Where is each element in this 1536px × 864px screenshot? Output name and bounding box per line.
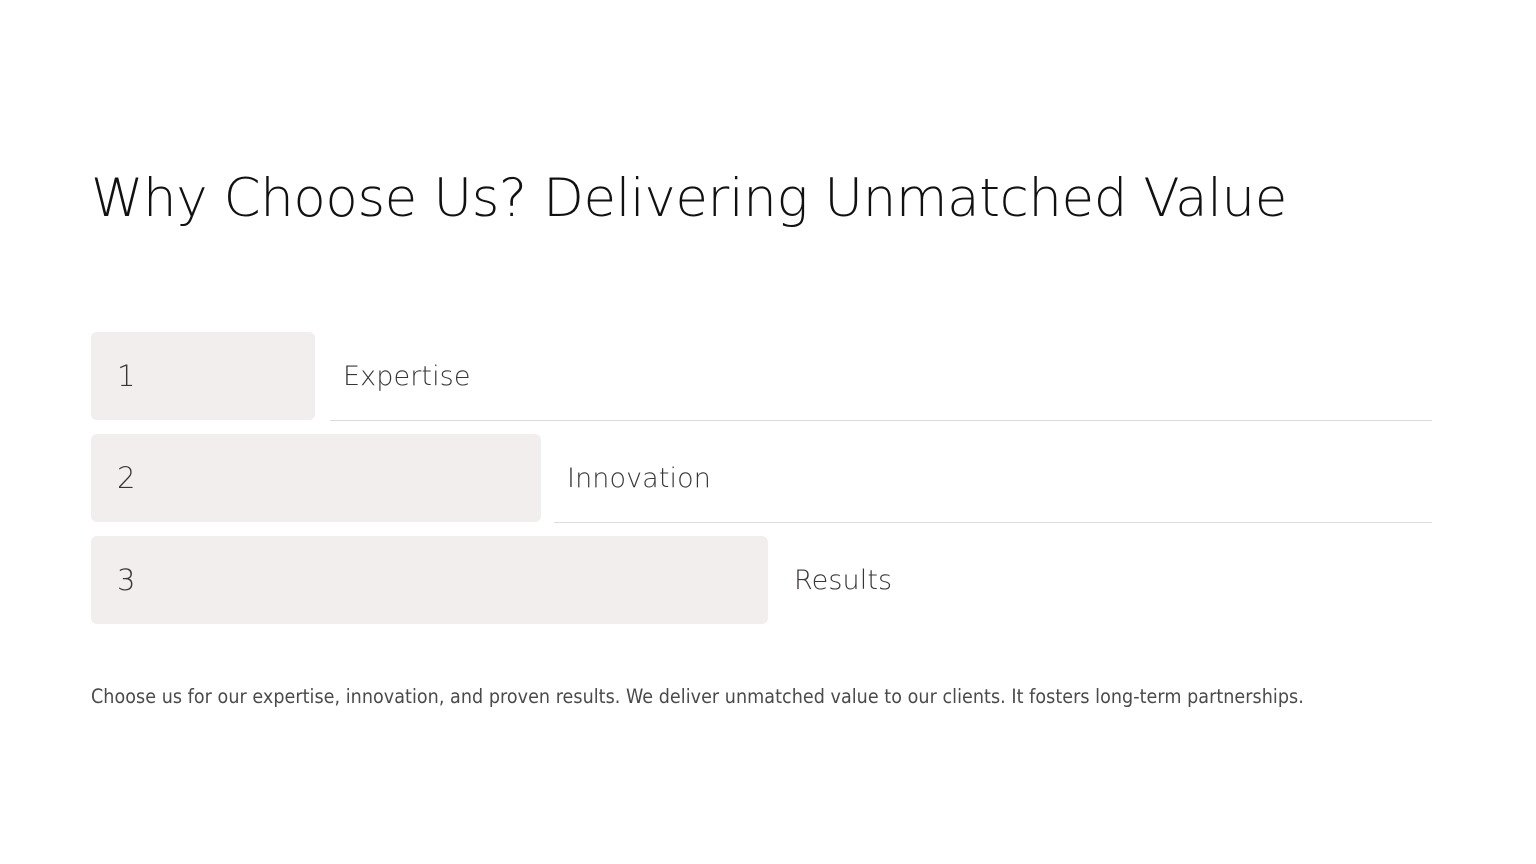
rank-number: 3 (91, 566, 136, 595)
rank-label-container: Expertise (343, 332, 1432, 420)
list-item[interactable]: 2 Innovation (91, 434, 1432, 522)
list-item[interactable]: 3 Results (91, 536, 1432, 624)
rank-label: Innovation (567, 465, 711, 492)
rank-label: Results (794, 567, 892, 594)
rank-label-container: Results (794, 536, 1432, 624)
rank-bar: 2 (91, 434, 541, 522)
rank-bar: 3 (91, 536, 768, 624)
list-item[interactable]: 1 Expertise (91, 332, 1432, 420)
rank-number: 2 (91, 464, 136, 493)
rank-label-container: Innovation (567, 434, 1432, 522)
rank-number: 1 (91, 362, 136, 391)
rank-divider (554, 522, 1432, 523)
rank-label: Expertise (343, 363, 471, 390)
ranked-list: 1 Expertise 2 Innovation 3 Results (91, 332, 1432, 624)
rank-divider (330, 420, 1432, 421)
page-title: Why Choose Us? Delivering Unmatched Valu… (91, 168, 1451, 231)
slide-canvas: Why Choose Us? Delivering Unmatched Valu… (0, 0, 1536, 864)
rank-bar: 1 (91, 332, 315, 420)
body-paragraph: Choose us for our expertise, innovation,… (91, 677, 1391, 716)
